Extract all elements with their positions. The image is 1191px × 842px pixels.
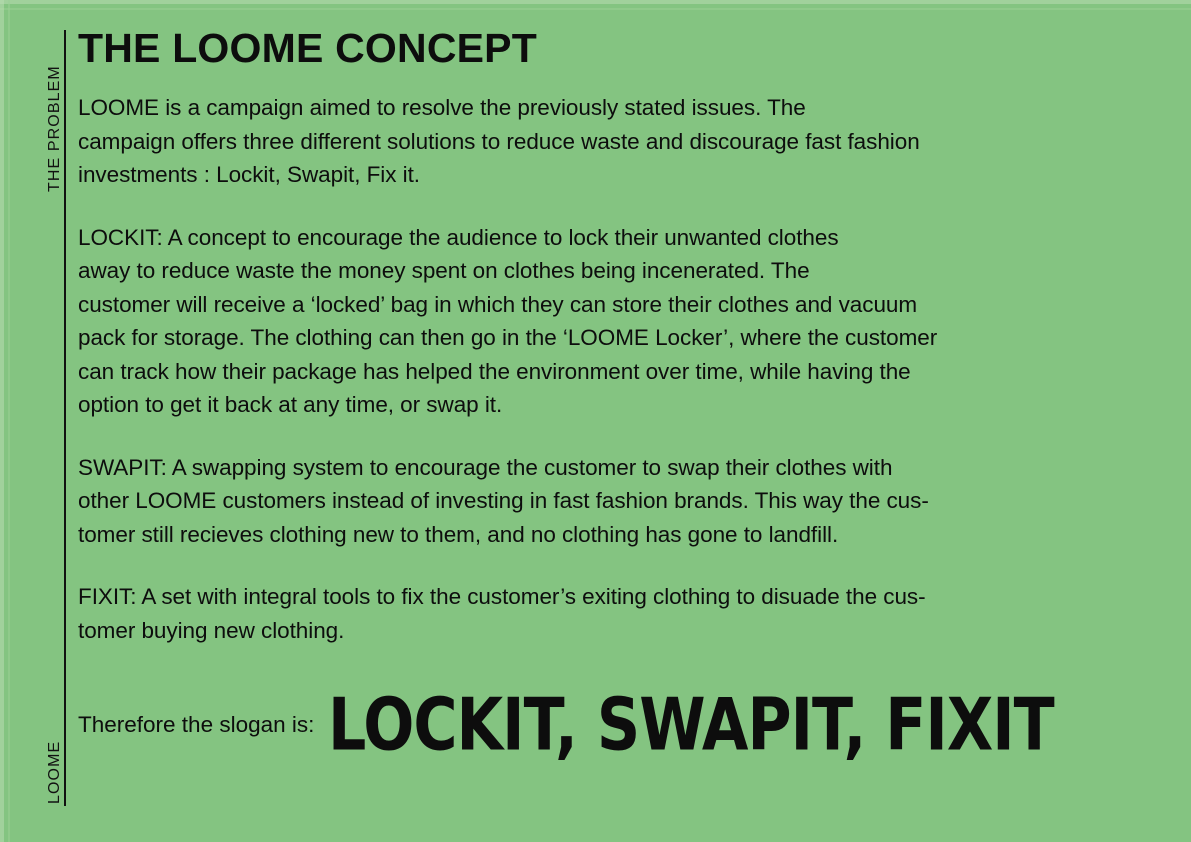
- text-line: LOOME is a campaign aimed to resolve the…: [78, 91, 1088, 125]
- text-line: option to get it back at any time, or sw…: [78, 388, 1088, 422]
- text-line: other LOOME customers instead of investi…: [78, 484, 1088, 518]
- text-line: tomer buying new clothing.: [78, 614, 1088, 648]
- text-line: customer will receive a ‘locked’ bag in …: [78, 288, 1088, 322]
- paragraph-swapit: SWAPIT: A swapping system to encourage t…: [78, 451, 1088, 552]
- text-line: investments : Lockit, Swapit, Fix it.: [78, 158, 1088, 192]
- slogan-row: Therefore the slogan is: LOCKIT, SWAPIT,…: [78, 680, 1088, 742]
- slogan-wordmark: LOCKIT, SWAPIT, FIXIT: [328, 689, 1054, 761]
- slide-canvas: THE PROBLEM LOOME THE LOOME CONCEPT LOOM…: [0, 0, 1191, 842]
- section-label-the-problem: THE PROBLEM: [46, 0, 64, 192]
- text-line: away to reduce waste the money spent on …: [78, 254, 1088, 288]
- text-line: tomer still recieves clothing new to the…: [78, 518, 1088, 552]
- paragraph-lockit: LOCKIT: A concept to encourage the audie…: [78, 221, 1088, 422]
- content-column: THE LOOME CONCEPT LOOME is a campaign ai…: [78, 28, 1088, 742]
- text-line: can track how their package has helped t…: [78, 355, 1088, 389]
- text-line: FIXIT: A set with integral tools to fix …: [78, 580, 1088, 614]
- vertical-divider-line: [64, 30, 66, 806]
- text-line: LOCKIT: A concept to encourage the audie…: [78, 221, 1088, 255]
- text-line: SWAPIT: A swapping system to encourage t…: [78, 451, 1088, 485]
- slide-edge-top: [0, 0, 1191, 4]
- slide-edge-top-inner: [0, 8, 1191, 10]
- paragraph-intro: LOOME is a campaign aimed to resolve the…: [78, 91, 1088, 192]
- brand-label-loome: LOOME: [46, 604, 64, 804]
- slide-edge-left: [0, 0, 4, 842]
- slide-edge-left-inner: [8, 0, 10, 842]
- page-title: THE LOOME CONCEPT: [78, 28, 1088, 69]
- text-line: pack for storage. The clothing can then …: [78, 321, 1088, 355]
- text-line: campaign offers three different solution…: [78, 125, 1088, 159]
- paragraph-fixit: FIXIT: A set with integral tools to fix …: [78, 580, 1088, 647]
- slogan-lead-in-text: Therefore the slogan is:: [78, 708, 314, 742]
